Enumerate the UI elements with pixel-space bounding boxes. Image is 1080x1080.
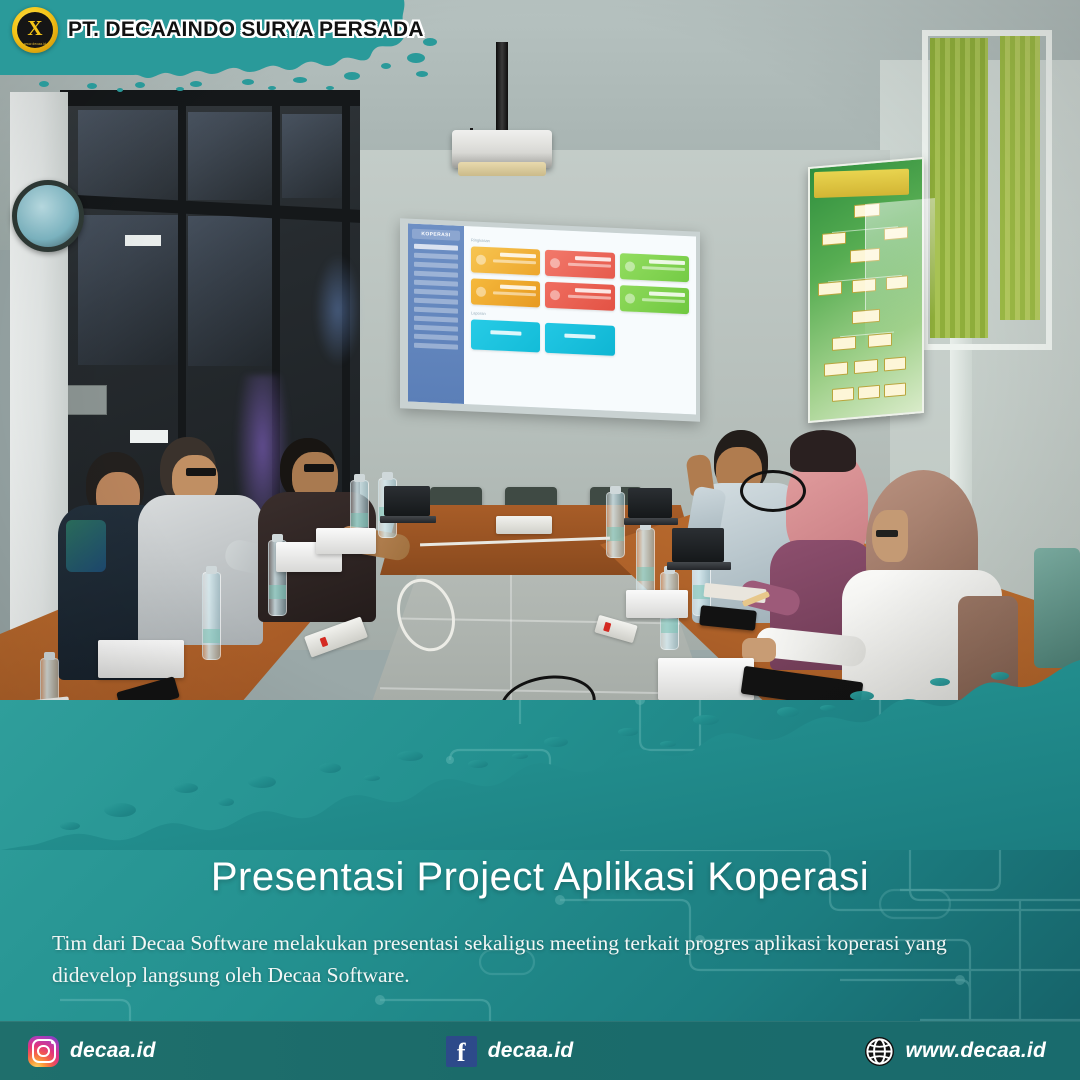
slide-stat-card: [545, 250, 614, 279]
screen-reflection: [315, 255, 361, 365]
website-url: www.decaa.id: [906, 1039, 1047, 1063]
slide-stat-card: [545, 282, 614, 311]
website-link[interactable]: www.decaa.id: [864, 1036, 1047, 1067]
power-strip: [496, 516, 552, 534]
water-bottle: [202, 572, 221, 660]
globe-icon: [864, 1036, 895, 1067]
projected-slide: KOPERASI Ringkasan: [408, 223, 696, 414]
poster-glare: [865, 198, 935, 384]
footer-bar: decaa.id f decaa.id www.decaa.id: [0, 1021, 1080, 1080]
slide-wide-card: [471, 319, 540, 352]
projector-lens: [458, 162, 546, 176]
instagram-icon: [28, 1036, 59, 1067]
water-bottle: [606, 492, 625, 558]
slide-stat-card: [471, 278, 540, 307]
wall-clock: [12, 180, 84, 252]
projector-mount-pole: [496, 42, 508, 134]
facebook-link[interactable]: f decaa.id: [446, 1036, 574, 1067]
decaa-logo[interactable]: X www.decaa.id: [12, 7, 58, 53]
logo-letter: X: [27, 18, 42, 39]
slide-stat-card: [620, 285, 689, 314]
poster-banner: [814, 169, 909, 198]
water-bottle: [636, 528, 655, 598]
facebook-icon: f: [446, 1036, 477, 1067]
window-frame: [922, 30, 1052, 350]
header-bar: X www.decaa.id PT. DECAAINDO SURYA PERSA…: [0, 0, 424, 60]
instagram-handle: decaa.id: [70, 1039, 156, 1063]
snack-box: [626, 590, 688, 618]
meeting-photo: KOPERASI Ringkasan: [0, 0, 1080, 820]
company-name: PT. DECAAINDO SURYA PERSADA: [68, 18, 424, 42]
chair: [1034, 548, 1080, 668]
slide-content: Ringkasan: [464, 226, 696, 415]
page-description: Tim dari Decaa Software melakukan presen…: [52, 928, 1028, 992]
slide-stat-card: [620, 253, 689, 282]
slide-wide-card: [545, 323, 614, 356]
slide-stat-card: [471, 246, 540, 275]
social-media-poster: KOPERASI Ringkasan: [0, 0, 1080, 1080]
slide-brand-label: KOPERASI: [412, 229, 460, 241]
wall-switch-panel: [63, 385, 107, 415]
snack-box: [98, 640, 184, 678]
instagram-link[interactable]: decaa.id: [28, 1036, 156, 1067]
slide-sidebar: KOPERASI: [408, 223, 464, 404]
org-chart-poster: [808, 157, 924, 423]
door-sign: [125, 235, 161, 246]
logo-url-text: www.decaa.id: [12, 42, 58, 46]
snack-box: [316, 528, 376, 554]
facebook-handle: decaa.id: [488, 1039, 574, 1063]
page-title: Presentasi Project Aplikasi Koperasi: [0, 855, 1080, 900]
dark-cable: [740, 470, 806, 512]
exit-sign: [130, 430, 168, 443]
snack-box: [658, 658, 754, 700]
